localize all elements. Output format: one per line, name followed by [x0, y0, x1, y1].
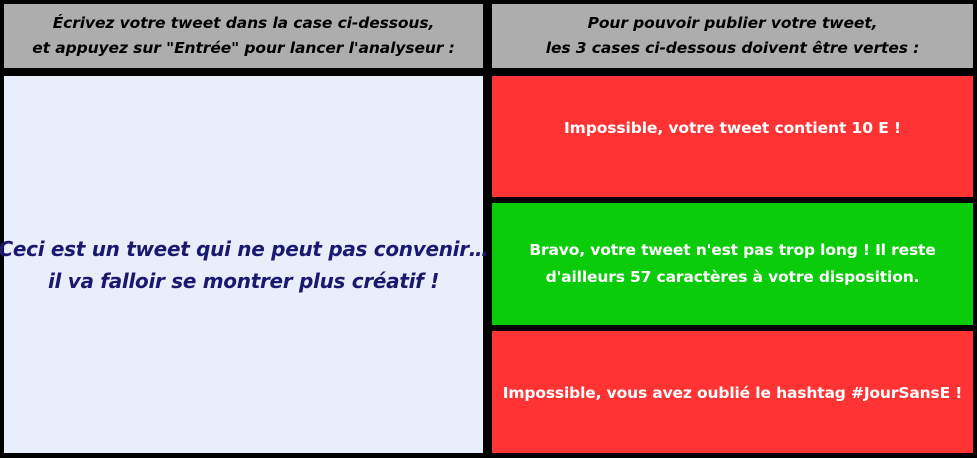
header-instruction-left: Écrivez votre tweet dans la case ci-dess… — [4, 4, 483, 68]
status-box-hashtag-check: Impossible, vous avez oublié le hashtag … — [492, 331, 973, 453]
header-instruction-right: Pour pouvoir publier votre tweet, les 3 … — [492, 4, 973, 68]
tweet-input-line-1: Ceci est un tweet qui ne peut pas conven… — [0, 233, 489, 265]
status-box-0-line-1: Impossible, votre tweet contient 10 E ! — [564, 116, 901, 141]
tweet-input-field[interactable]: Ceci est un tweet qui ne peut pas conven… — [4, 76, 483, 453]
status-box-1-line-2: d'ailleurs 57 caractères à votre disposi… — [546, 264, 920, 291]
header-left-line-1: Écrivez votre tweet dans la case ci-dess… — [53, 11, 435, 36]
header-right-line-2: les 3 cases ci-dessous doivent être vert… — [546, 36, 920, 61]
header-band: Écrivez votre tweet dans la case ci-dess… — [0, 0, 977, 72]
header-left-line-2: et appuyez sur "Entrée" pour lancer l'an… — [32, 36, 455, 61]
tweet-analyzer-app: Écrivez votre tweet dans la case ci-dess… — [0, 0, 977, 458]
status-box-contains-e-check: Impossible, votre tweet contient 10 E ! — [492, 76, 973, 197]
status-box-2-line-1: Impossible, vous avez oublié le hashtag … — [503, 381, 962, 406]
tweet-input-line-2: il va falloir se montrer plus créatif ! — [48, 265, 439, 297]
status-box-length-check: Bravo, votre tweet n'est pas trop long !… — [492, 203, 973, 325]
header-right-line-1: Pour pouvoir publier votre tweet, — [588, 11, 878, 36]
status-box-1-line-1: Bravo, votre tweet n'est pas trop long !… — [529, 237, 935, 264]
